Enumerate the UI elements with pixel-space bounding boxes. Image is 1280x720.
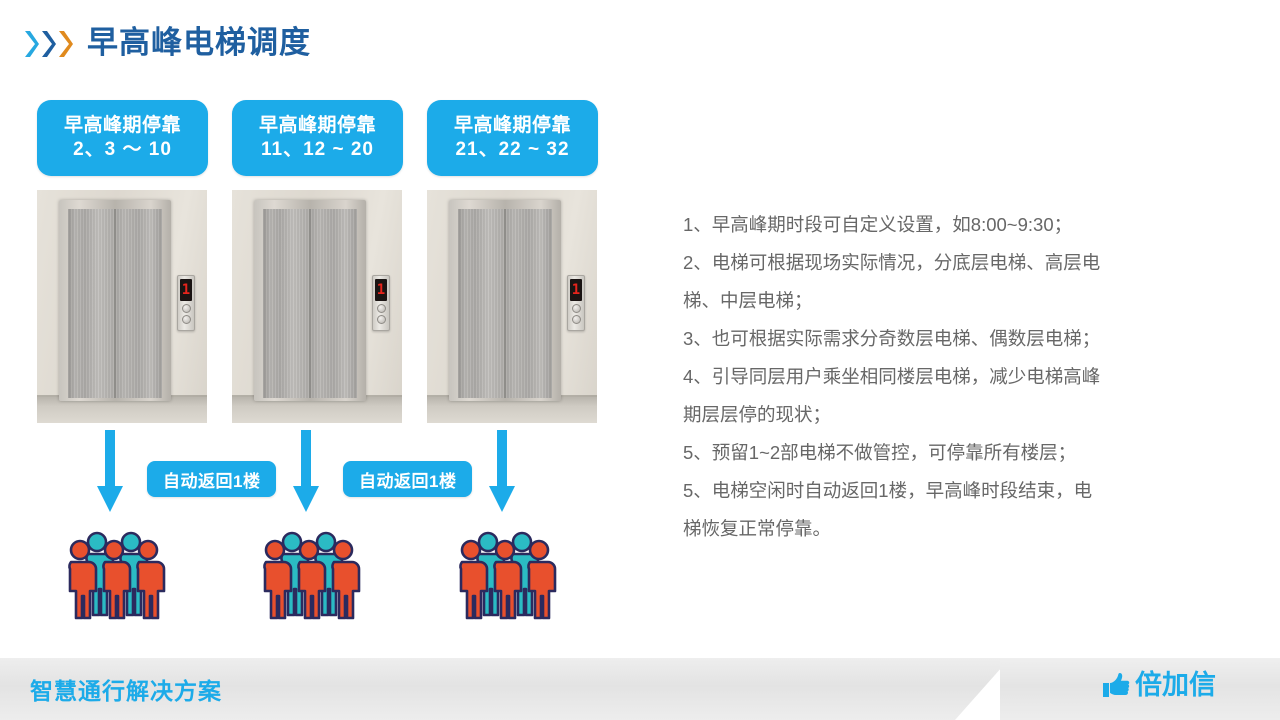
call-button-up [182, 304, 191, 313]
page-header: 早高峰电梯调度 [24, 26, 311, 59]
note-line: 4、引导同层用户乘坐相同楼层电梯，减少电梯高峰 [683, 358, 1188, 396]
elevator-call-panel: 1 [372, 275, 390, 331]
down-arrow-icon-2 [292, 430, 320, 516]
note-line: 期层层停的现状； [683, 396, 1188, 434]
badge-label-line1: 早高峰期停靠 [454, 114, 571, 138]
floor-display: 1 [570, 279, 582, 301]
chevron-right-icon-2 [41, 29, 56, 59]
badge-label-line1: 早高峰期停靠 [64, 114, 181, 138]
elevator-door-frame [254, 200, 366, 401]
note-line: 1、早高峰期时段可自定义设置，如8:00~9:30； [683, 206, 1188, 244]
down-arrow-icon-3 [488, 430, 516, 516]
page-title: 早高峰电梯调度 [87, 27, 311, 58]
brand-name: 倍加信 [1135, 672, 1216, 699]
chevron-right-icon-1 [24, 29, 39, 59]
badge-label-line1: 早高峰期停靠 [259, 114, 376, 138]
call-button-down [377, 315, 386, 324]
call-button-up [572, 304, 581, 313]
call-button-down [572, 315, 581, 324]
stop-range-badge-1: 早高峰期停靠 2、3 ～ 10 [37, 100, 208, 176]
call-button-up [377, 304, 386, 313]
note-line: 5、预留1~2部电梯不做管控，可停靠所有楼层； [683, 434, 1188, 472]
call-button-down [182, 315, 191, 324]
elevator-call-panel: 1 [177, 275, 195, 331]
door-seam [504, 209, 506, 398]
stop-range-badge-3: 早高峰期停靠 21、22 ~ 32 [427, 100, 598, 176]
elevator-image-3: 1 [427, 190, 597, 423]
chevron-right-icon-3 [58, 29, 73, 59]
floor-display-value: 1 [182, 283, 190, 297]
floor-display: 1 [180, 279, 192, 301]
footer-title: 智慧通行解决方案 [30, 672, 222, 706]
elevator-door-frame [449, 200, 561, 401]
elevator-image-1: 1 [37, 190, 207, 423]
note-line: 梯、中层电梯； [683, 282, 1188, 320]
auto-return-label-2: 自动返回1楼 [343, 461, 472, 497]
slide-canvas: 早高峰电梯调度 早高峰期停靠 2、3 ～ 10 早高峰期停靠 11、12 ~ 2… [0, 0, 1280, 720]
door-seam [309, 209, 311, 398]
note-line: 梯恢复正常停靠。 [683, 510, 1188, 548]
elevator-call-panel: 1 [567, 275, 585, 331]
door-seam [114, 209, 116, 398]
elevator-doors [263, 209, 357, 398]
notes-list: 1、早高峰期时段可自定义设置，如8:00~9:30； 2、电梯可根据现场实际情况… [683, 206, 1188, 548]
people-group-icon-2 [255, 530, 375, 620]
down-arrow-icon-1 [96, 430, 124, 516]
elevator-doors [68, 209, 162, 398]
footer-bar: 智慧通行解决方案 倍加信 [0, 658, 1280, 720]
auto-return-label-1: 自动返回1楼 [147, 461, 276, 497]
floor-display-value: 1 [572, 283, 580, 297]
stop-range-badge-2: 早高峰期停靠 11、12 ~ 20 [232, 100, 403, 176]
badge-label-line2: 2、3 ～ 10 [73, 138, 172, 163]
badge-label-line2: 21、22 ~ 32 [455, 138, 569, 163]
note-line: 2、电梯可根据现场实际情况，分底层电梯、高层电 [683, 244, 1188, 282]
elevator-door-frame [59, 200, 171, 401]
floor-display-value: 1 [377, 283, 385, 297]
chevron-group-icon [24, 29, 73, 59]
thumbs-up-icon [1101, 670, 1131, 700]
people-group-icon-1 [60, 530, 180, 620]
elevator-image-2: 1 [232, 190, 402, 423]
floor-display: 1 [375, 279, 387, 301]
note-line: 5、电梯空闲时自动返回1楼，早高峰时段结束，电 [683, 472, 1188, 510]
people-group-icon-3 [451, 530, 571, 620]
badge-label-line2: 11、12 ~ 20 [261, 138, 374, 163]
elevator-doors [458, 209, 552, 398]
brand-logo: 倍加信 [1101, 670, 1216, 700]
note-line: 3、也可根据实际需求分奇数层电梯、偶数层电梯； [683, 320, 1188, 358]
